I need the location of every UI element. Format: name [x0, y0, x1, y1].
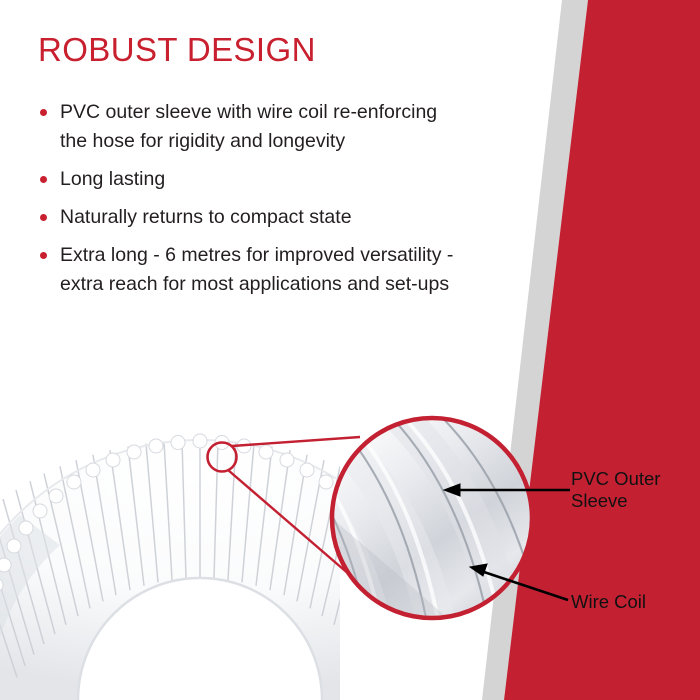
list-item: Long lasting [38, 165, 458, 194]
magnified-detail-circle [250, 398, 546, 665]
pvc-sleeve-arrow [444, 484, 570, 496]
magnifier-source-circle [208, 443, 237, 472]
bullet-icon [40, 176, 47, 183]
list-item: Naturally returns to compact state [38, 203, 458, 232]
list-item-label: Long lasting [60, 168, 165, 190]
list-item: PVC outer sleeve with wire coil re-enfor… [38, 98, 458, 156]
list-item-label: Extra long - 6 metres for improved versa… [60, 244, 453, 295]
bullet-icon [40, 214, 47, 221]
product-infographic: ROBUST DESIGN PVC outer sleeve with wire… [0, 0, 700, 700]
callout-label-wire-coil: Wire Coil [571, 591, 696, 613]
bullet-icon [40, 252, 47, 259]
list-item: Extra long - 6 metres for improved versa… [38, 241, 458, 299]
feature-text-column: ROBUST DESIGN PVC outer sleeve with wire… [38, 32, 458, 307]
list-item-label: PVC outer sleeve with wire coil re-enfor… [60, 101, 437, 152]
wire-coil-arrow [470, 564, 568, 600]
feature-list: PVC outer sleeve with wire coil re-enfor… [38, 98, 458, 298]
bullet-icon [40, 109, 47, 116]
page-title: ROBUST DESIGN [38, 32, 458, 68]
flexible-hose-coil [0, 434, 460, 700]
list-item-label: Naturally returns to compact state [60, 206, 352, 228]
callout-label-pvc-outer-sleeve: PVC Outer Sleeve [571, 468, 696, 512]
callout-arrows [444, 484, 570, 600]
magnifier-leader-lines [228, 437, 372, 594]
